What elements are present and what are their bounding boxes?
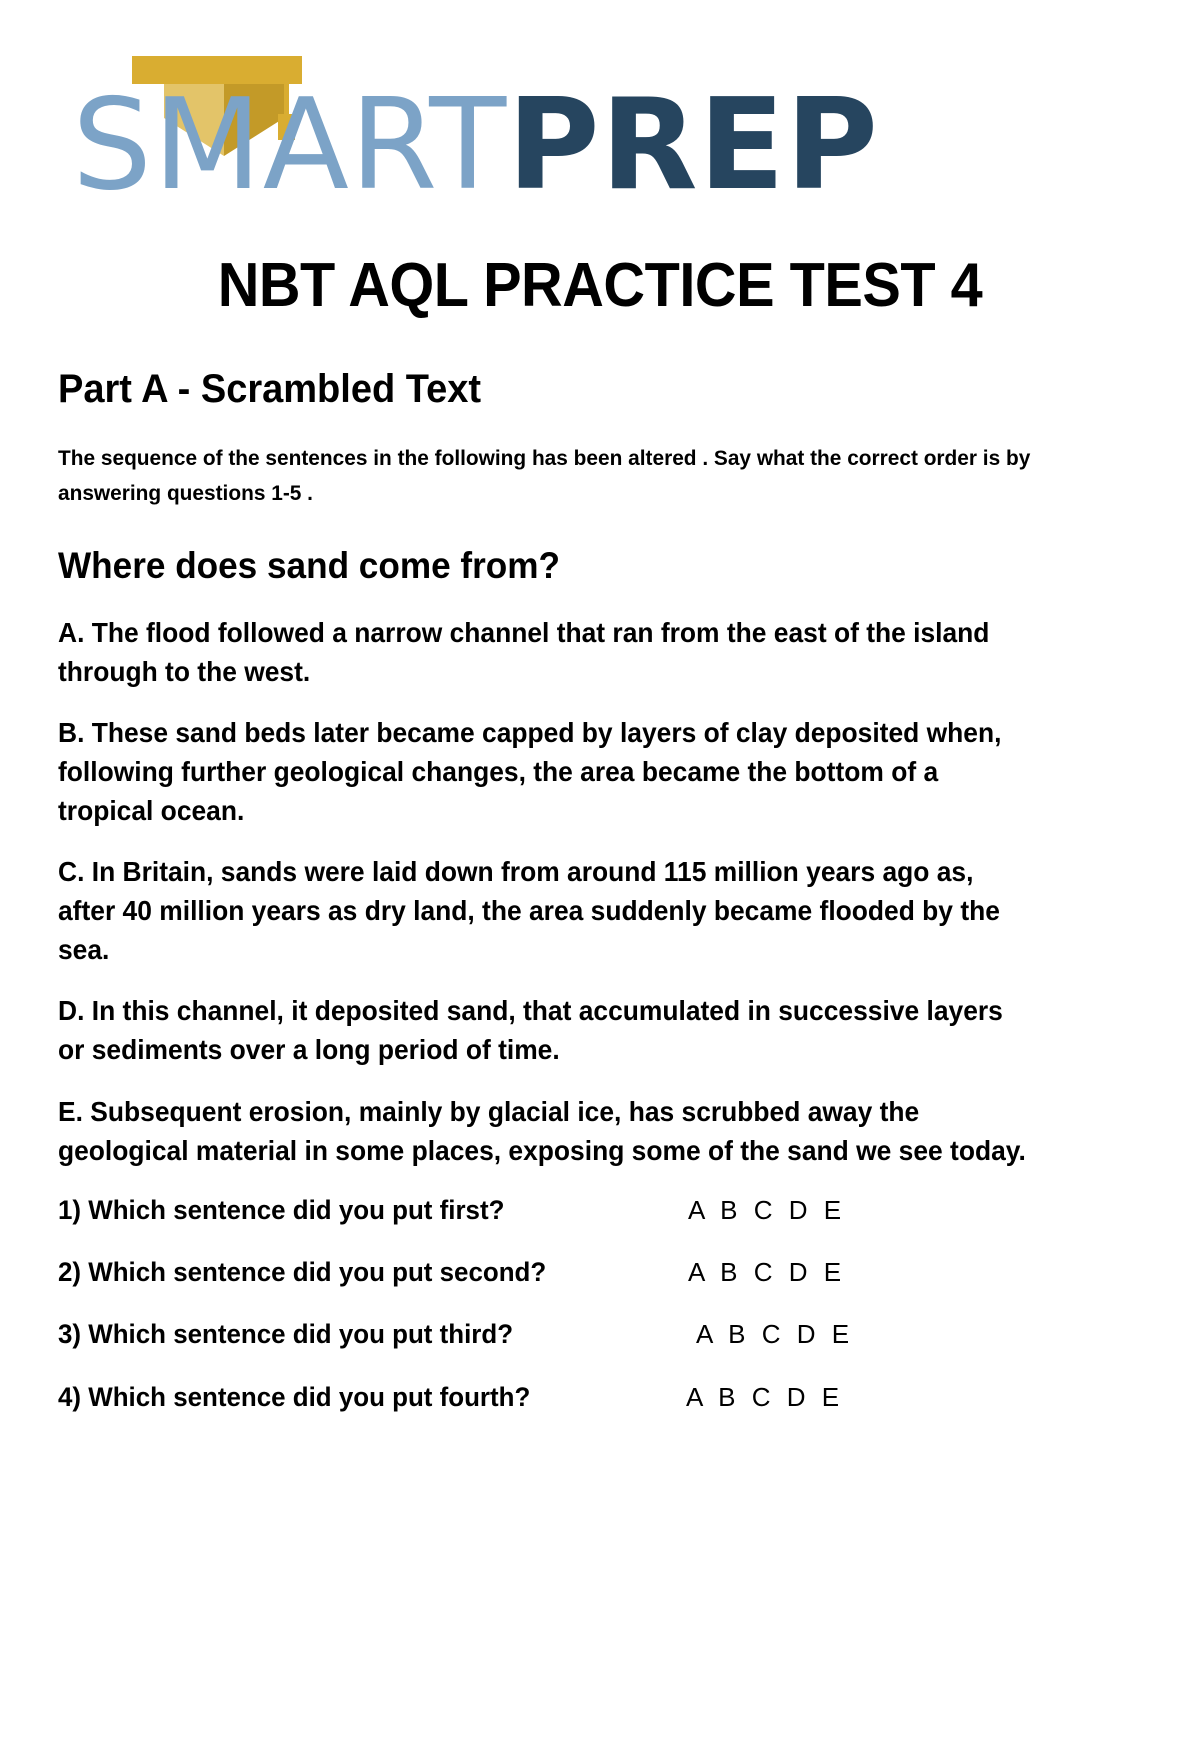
scrambled-sentence-list: A. The flood followed a narrow channel t… bbox=[58, 613, 1142, 1170]
page-title: NBT AQL PRACTICE TEST 4 bbox=[96, 253, 1104, 319]
logo-wordmark: SMARTPREP bbox=[72, 82, 879, 208]
question-row-3: 3) Which sentence did you put third? A B… bbox=[58, 1318, 1142, 1350]
logo-prep-text: PREP bbox=[507, 71, 879, 218]
document-page: SMARTPREP NBT AQL PRACTICE TEST 4 Part A… bbox=[0, 42, 1200, 1738]
question-2-options[interactable]: A B C D E bbox=[688, 1257, 846, 1288]
instruction-text: The sequence of the sentences in the fol… bbox=[58, 441, 1057, 511]
question-4-text: 4) Which sentence did you put fourth? bbox=[58, 1381, 653, 1413]
sentence-e: E. Subsequent erosion, mainly by glacial… bbox=[58, 1092, 1028, 1170]
question-2-text: 2) Which sentence did you put second? bbox=[58, 1256, 653, 1288]
question-1-options[interactable]: A B C D E bbox=[688, 1195, 846, 1226]
question-list: 1) Which sentence did you put first? A B… bbox=[58, 1194, 1142, 1414]
question-3-options[interactable]: A B C D E bbox=[696, 1319, 854, 1350]
sentence-b: B. These sand beds later became capped b… bbox=[58, 713, 1028, 830]
sentence-a: A. The flood followed a narrow channel t… bbox=[58, 613, 1028, 691]
logo-smart-text: SMART bbox=[72, 71, 507, 218]
question-4-options[interactable]: A B C D E bbox=[686, 1382, 844, 1413]
passage-heading: Where does sand come from? bbox=[58, 546, 1088, 587]
question-row-2: 2) Which sentence did you put second? A … bbox=[58, 1256, 1142, 1288]
sentence-d: D. In this channel, it deposited sand, t… bbox=[58, 991, 1028, 1069]
brand-logo: SMARTPREP bbox=[66, 42, 1142, 247]
question-row-1: 1) Which sentence did you put first? A B… bbox=[58, 1194, 1142, 1226]
sentence-c: C. In Britain, sands were laid down from… bbox=[58, 852, 1028, 969]
question-1-text: 1) Which sentence did you put first? bbox=[58, 1194, 653, 1226]
section-heading-part-a: Part A - Scrambled Text bbox=[58, 367, 1088, 411]
question-3-text: 3) Which sentence did you put third? bbox=[58, 1318, 653, 1350]
question-row-4: 4) Which sentence did you put fourth? A … bbox=[58, 1381, 1142, 1413]
